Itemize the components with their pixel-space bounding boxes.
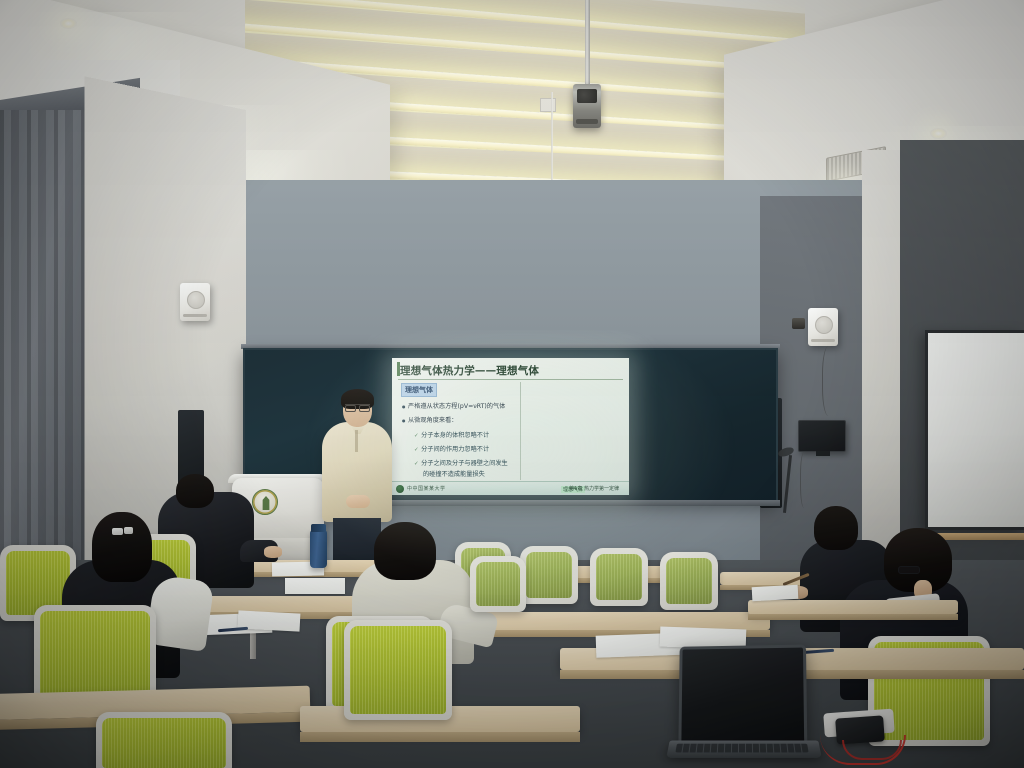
ceiling-mount-box — [540, 98, 556, 112]
slide-footer-chapter: 第1章 热力学第一定律 — [569, 485, 619, 492]
slide-section-tag: 理想气体 — [401, 383, 437, 397]
laptop-keyboard — [675, 744, 808, 753]
laptop-screen — [678, 645, 807, 742]
chair — [660, 552, 718, 610]
wall-speaker-icon — [180, 283, 210, 321]
student-back-left-hand — [264, 546, 282, 558]
glasses-icon — [345, 404, 370, 409]
hair-clip-icon — [124, 527, 133, 534]
slide-footer-university: 中中国某某大学 — [407, 485, 446, 492]
chair — [520, 546, 578, 604]
university-emblem-icon — [252, 489, 278, 515]
paper-sheet — [752, 585, 799, 601]
hair-clip-icon — [112, 528, 123, 535]
monitor-cable — [800, 452, 810, 508]
wall-camera-icon — [792, 318, 805, 329]
slide-column-divider — [520, 382, 521, 480]
projected-slide: 理想气体热力学——理想气体 理想气体 严格遵从状态方程(pV=νRT)的气体 从… — [392, 358, 629, 495]
bottle-cap — [311, 524, 326, 532]
wall-speaker-icon — [808, 308, 838, 346]
whiteboard — [925, 330, 1024, 530]
lecturer-shirt-placket — [355, 430, 358, 452]
slide-bullet-1: 严格遵从状态方程(pV=νRT)的气体 — [402, 401, 505, 410]
laptop-base — [666, 740, 822, 757]
paper-sheet — [285, 578, 345, 594]
chair — [96, 712, 232, 768]
slide-footer: 中中国某某大学 理想气体 第1章 热力学第一定律 — [392, 481, 629, 495]
desk-row-right — [748, 600, 958, 614]
ceiling-downlight — [60, 18, 77, 29]
slide-subbullet-3: 分子之间及分子与器壁之间发生 — [414, 458, 508, 467]
pendant-pole — [585, 0, 590, 92]
student-center-hair — [374, 522, 436, 580]
desk-edge — [300, 732, 580, 742]
slide-subbullet-4: 的碰撞不造成能量损失 — [423, 469, 485, 478]
wall-monitor — [798, 420, 846, 452]
university-logo-icon — [396, 485, 404, 493]
classroom-photo: 理想气体热力学——理想气体 理想气体 严格遵从状态方程(pV=νRT)的气体 从… — [0, 0, 1024, 768]
slide-subbullet-2: 分子间的作用力忽略不计 — [414, 444, 489, 453]
observer-back-head — [814, 506, 858, 550]
desk-edge — [748, 614, 958, 620]
speaker-cable — [822, 346, 838, 416]
thermos-bottle — [310, 530, 327, 568]
slide-title-divider — [398, 379, 623, 380]
slide-title: 理想气体热力学——理想气体 — [400, 363, 623, 378]
slide-bullet-2: 从微观角度来看： — [402, 415, 458, 424]
chair — [470, 556, 526, 612]
chair — [344, 620, 452, 720]
ceiling-camera-icon — [573, 84, 601, 128]
chair — [590, 548, 648, 606]
desk-row-mid-center — [470, 612, 770, 630]
ceiling-downlight — [930, 128, 947, 139]
lecturer-hands — [346, 495, 370, 508]
student-back-left-head — [176, 474, 214, 508]
glasses-icon — [898, 566, 920, 574]
student-front-left-hair — [92, 512, 152, 582]
slide-subbullet-1: 分子本身的体积忽略不计 — [414, 430, 489, 439]
